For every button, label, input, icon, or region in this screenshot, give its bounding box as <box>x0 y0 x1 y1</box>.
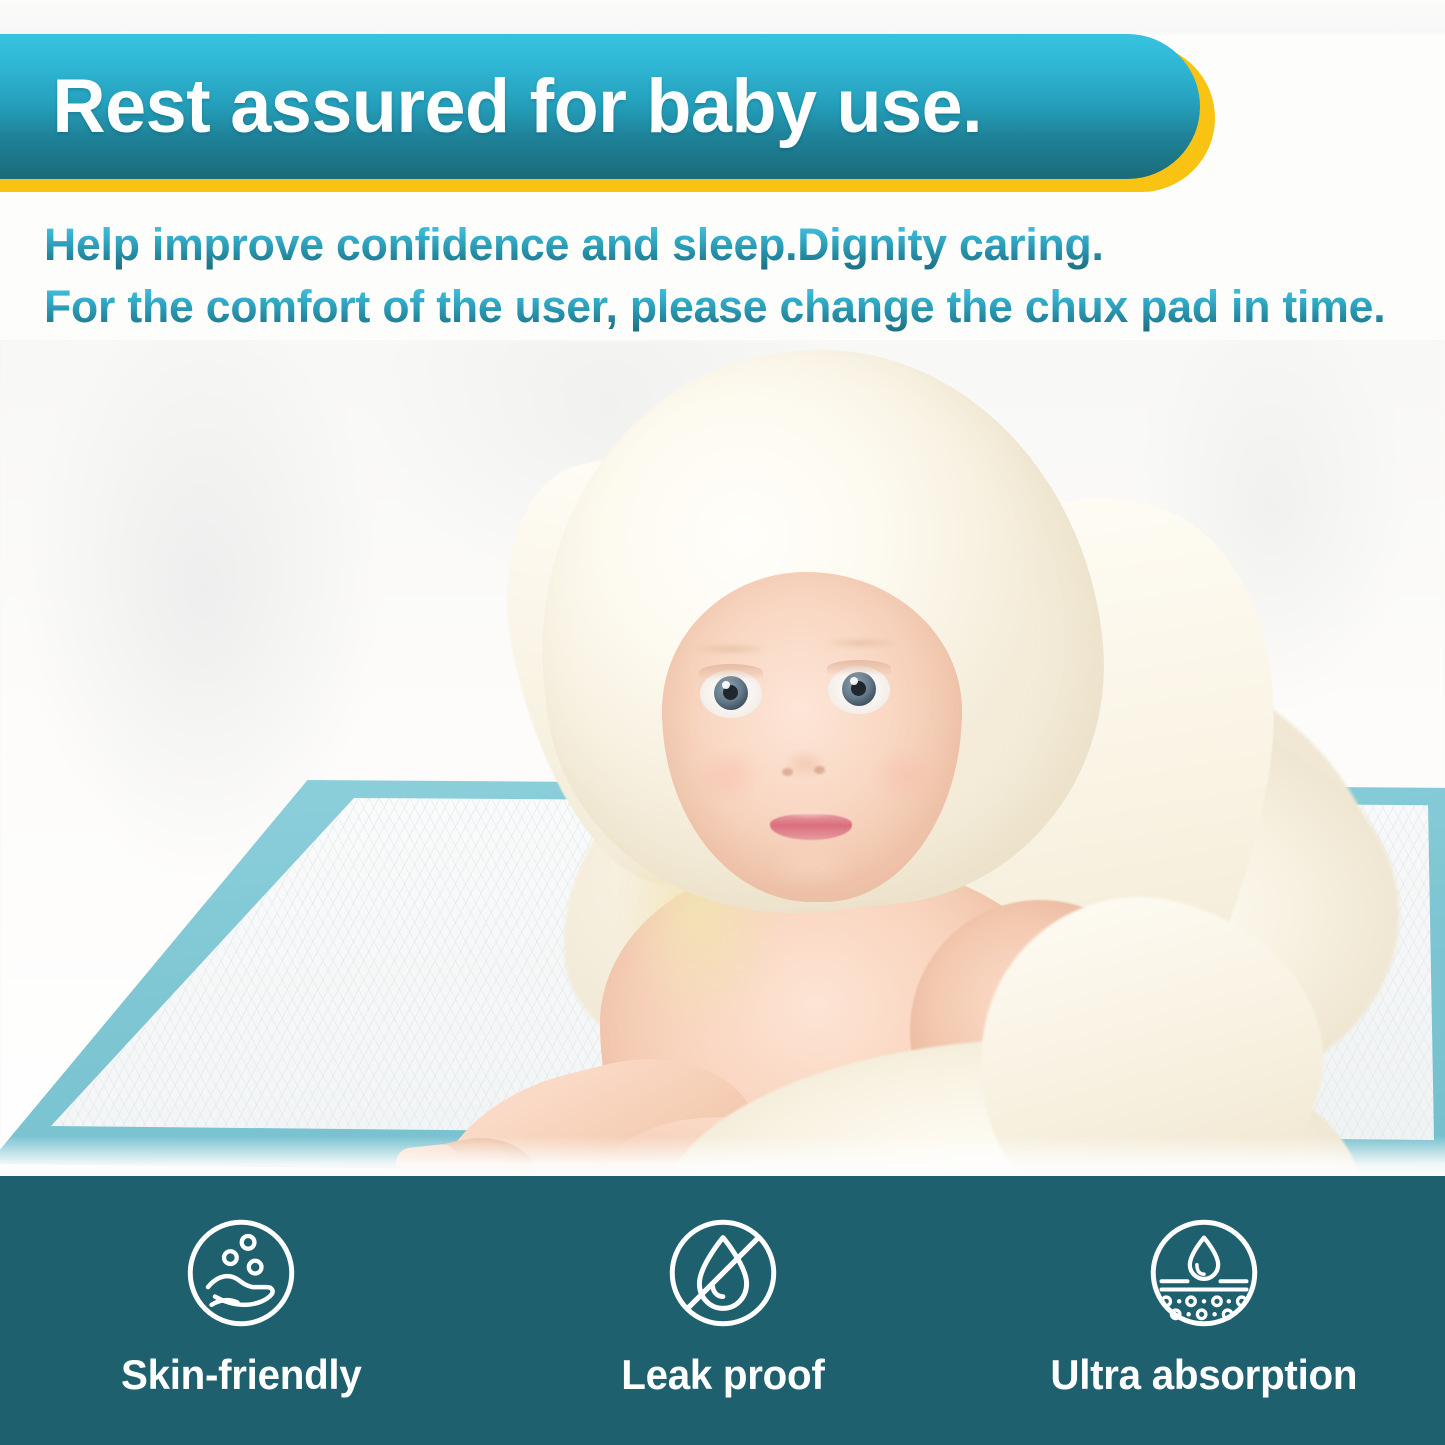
skin-friendly-icon <box>182 1214 300 1332</box>
baby-chin <box>752 840 872 902</box>
baby-eye-glint-right <box>850 677 858 685</box>
feature-label: Skin-friendly <box>121 1354 361 1396</box>
feature-label: Leak proof <box>621 1354 824 1396</box>
baby-cheek-left <box>686 740 772 810</box>
baby-eyelid-right <box>827 660 891 676</box>
subtitle-line-2: For the comfort of the user, please chan… <box>44 276 1410 338</box>
baby-nostril-right <box>814 766 825 774</box>
baby-nostril-left <box>782 768 793 776</box>
ultra-absorption-icon <box>1145 1214 1263 1332</box>
product-feature-page: Rest assured for baby use. Help improve … <box>0 0 1445 1445</box>
subtitle-block: Help improve confidence and sleep.Dignit… <box>44 214 1424 338</box>
hero-photo <box>0 340 1445 1176</box>
feature-item-skin-friendly: Skin-friendly <box>0 1176 482 1445</box>
baby-eyelid-left <box>699 664 763 680</box>
headline-banner: Rest assured for baby use. <box>0 34 1215 192</box>
subtitle-line-1: Help improve confidence and sleep.Dignit… <box>44 214 1410 276</box>
baby-eye-glint-left <box>722 681 730 689</box>
photo-bottom-fade <box>0 1136 1445 1176</box>
top-margin-strip <box>0 0 1445 34</box>
baby-eyebrow-left <box>694 644 768 654</box>
feature-item-leak-proof: Leak proof <box>482 1176 964 1445</box>
feature-bar: Skin-friendly Leak proof <box>0 1176 1445 1445</box>
feature-label: Ultra absorption <box>1051 1354 1358 1396</box>
feature-item-ultra-absorption: Ultra absorption <box>963 1176 1445 1445</box>
leak-proof-icon <box>664 1214 782 1332</box>
baby-lip-highlight <box>784 810 836 818</box>
baby-figure <box>0 340 1445 1176</box>
baby-cheek-right <box>862 740 948 810</box>
banner-body: Rest assured for baby use. <box>0 34 1200 179</box>
baby-eyebrow-right <box>824 638 898 648</box>
banner-title: Rest assured for baby use. <box>0 69 982 145</box>
